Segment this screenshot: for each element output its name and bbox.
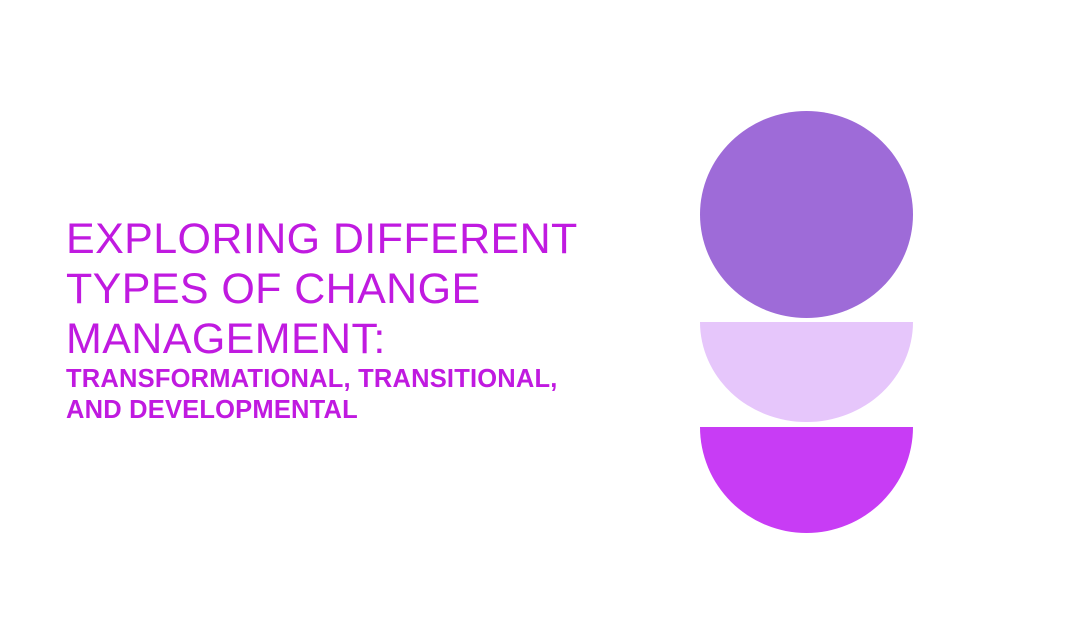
half-circle-light-shape — [700, 322, 913, 422]
page-subtitle: TRANSFORMATIONAL, TRANSITIONAL, AND DEVE… — [66, 364, 686, 426]
subtitle-line-1: TRANSFORMATIONAL, TRANSITIONAL, — [66, 364, 686, 395]
title-line-2: TYPES OF CHANGE — [66, 264, 666, 314]
slide-canvas: EXPLORING DIFFERENT TYPES OF CHANGE MANA… — [0, 0, 1080, 644]
title-line-3: MANAGEMENT: — [66, 314, 666, 364]
subtitle-line-2: AND DEVELOPMENTAL — [66, 395, 686, 426]
decorative-shape-stack — [700, 111, 913, 533]
circle-shape — [700, 111, 913, 318]
page-title: EXPLORING DIFFERENT TYPES OF CHANGE MANA… — [66, 214, 666, 364]
title-line-1: EXPLORING DIFFERENT — [66, 214, 666, 264]
half-circle-bright-shape — [700, 427, 913, 533]
